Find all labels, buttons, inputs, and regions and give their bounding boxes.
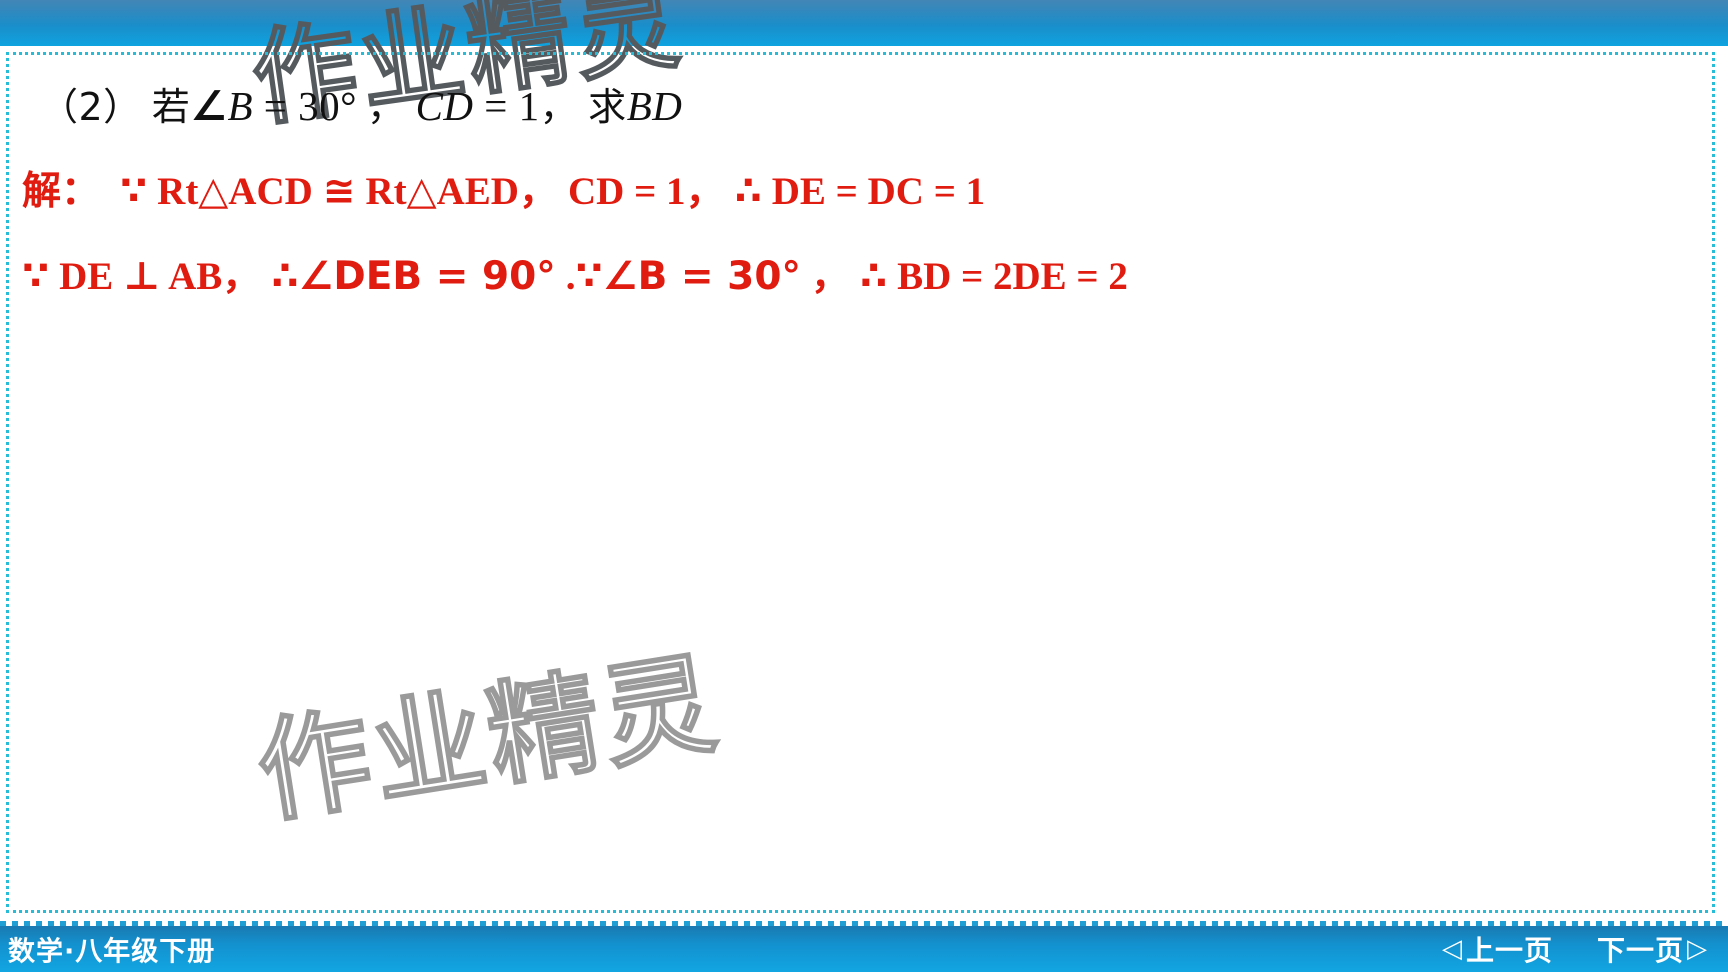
equals-30-deg: = 30° — [253, 83, 357, 129]
prev-page-label: 上一页 — [1466, 929, 1553, 969]
prev-arrow-icon: ◁ — [1442, 934, 1463, 964]
question-word-qiu: 求 — [588, 85, 627, 129]
bottom-footer-bar: 数学·八年级下册 ◁上一页 下一页▷ — [0, 926, 1728, 972]
period-separator: . — [566, 255, 576, 298]
navigation-group: ◁上一页 下一页▷ — [1442, 929, 1708, 969]
comma-1: ， — [367, 85, 406, 129]
comma-1: ， — [519, 169, 558, 214]
cd-equals-1: CD = 1 — [568, 170, 686, 213]
solution-line-1: 解：∵Rt△ACD≅Rt△AED，CD = 1，∴DE = DC = 1 — [22, 160, 985, 216]
segment-bd: BD — [627, 83, 683, 129]
angle-symbol: ∠ — [190, 82, 227, 130]
footer-title: 数学·八年级下册 — [8, 930, 215, 969]
solution-label: 解： — [22, 169, 100, 214]
bd-equals-2de-equals-2: BD = 2DE = 2 — [897, 255, 1128, 298]
prev-page-button[interactable]: ◁上一页 — [1442, 929, 1553, 969]
triangle-aed: Rt△AED — [365, 170, 519, 213]
next-page-label: 下一页 — [1597, 929, 1684, 969]
question-line: （2）若∠B = 30°，CD = 1，求BD — [40, 76, 682, 131]
therefore-symbol-2: ∴ — [860, 254, 887, 299]
question-number: （2） — [40, 85, 142, 129]
top-header-bar — [0, 0, 1728, 46]
de-perp-ab: DE ⊥ AB — [59, 255, 222, 298]
de-equals-dc-equals-1: DE = DC = 1 — [772, 170, 985, 213]
comma-2: ， — [540, 85, 579, 129]
variable-b: B — [227, 83, 253, 129]
therefore-symbol-1: ∴ — [735, 169, 762, 214]
because-symbol-1: ∵ — [22, 254, 49, 299]
triangle-acd: Rt△ACD — [157, 170, 313, 213]
equals-1: = 1 — [474, 83, 540, 129]
solution-line-2: ∵DE ⊥ AB，∴∠DEB = 90°.∵∠B = 30°，∴BD = 2DE… — [22, 245, 1128, 301]
therefore-symbol-1: ∴ — [271, 254, 298, 299]
angle-deb-equals-90: ∠DEB = 90° — [298, 254, 555, 299]
segment-cd: CD — [416, 83, 474, 129]
next-arrow-icon: ▷ — [1687, 934, 1708, 964]
congruent-symbol: ≅ — [323, 169, 356, 214]
next-page-button[interactable]: 下一页▷ — [1597, 929, 1708, 969]
angle-b-equals-30: ∠B = 30° — [603, 254, 801, 299]
comma-1: ， — [222, 254, 261, 299]
header-gloss-overlay — [0, 0, 1728, 46]
question-word-ruo: 若 — [152, 85, 191, 129]
comma-2: ， — [686, 169, 725, 214]
because-symbol-2: ∵ — [576, 254, 603, 299]
because-symbol-1: ∵ — [120, 169, 147, 214]
comma-2: ， — [811, 254, 850, 299]
